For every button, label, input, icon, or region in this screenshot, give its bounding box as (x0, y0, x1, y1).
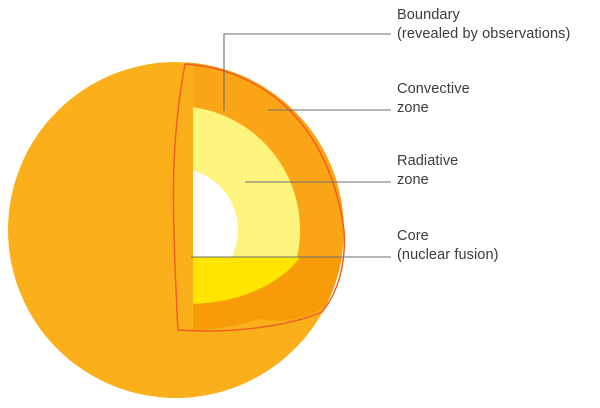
sun-cutaway-diagram: Boundary (revealed by observations) Conv… (0, 0, 600, 408)
sun-cutaway-illustration (0, 0, 600, 408)
